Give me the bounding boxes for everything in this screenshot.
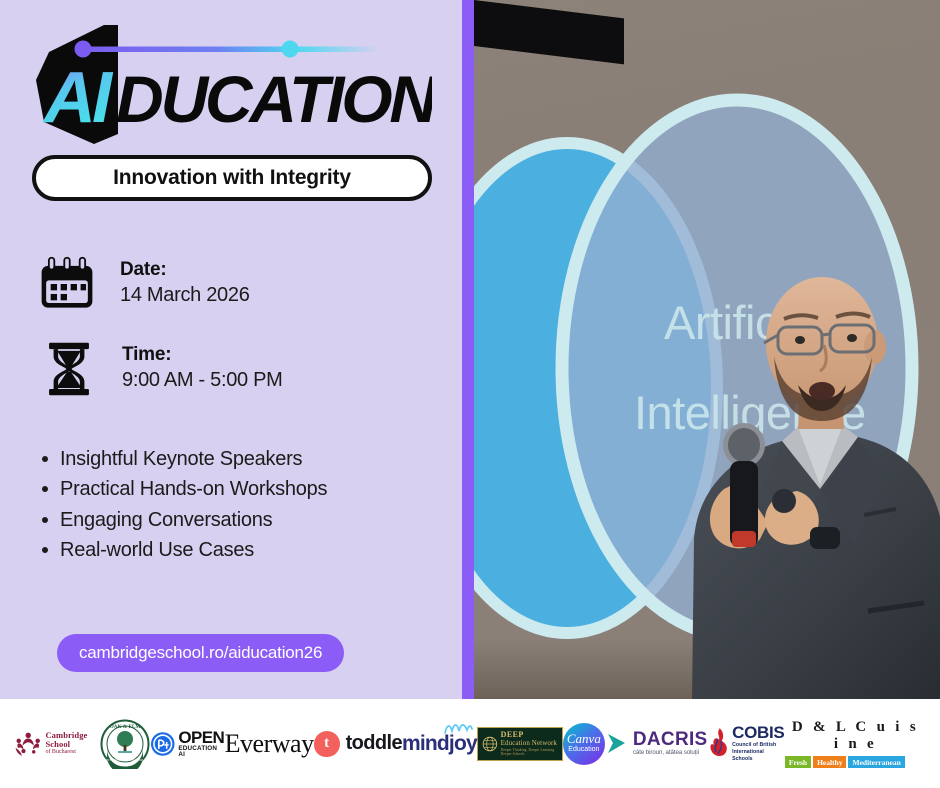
logo-connector-line: [80, 47, 380, 53]
deep-globe-icon: [482, 733, 498, 755]
dl-tag-healthy: Healthy: [813, 756, 846, 768]
purple-divider: [462, 0, 474, 699]
sponsor-logo-oak-and-elm: OAK & ELM INTERNATIONAL SCHOOL: [100, 716, 150, 772]
sponsor-logo-dl-cuisine: D & L C u i s i n e Fresh Healthy Medite…: [785, 716, 926, 772]
sponsor-logo-canva-education: Canva Education: [563, 716, 605, 772]
open-education-name: OPEN: [178, 729, 224, 746]
cobis-wordmark: COBIS: [732, 724, 785, 743]
deep-sub: Education Network: [501, 740, 558, 748]
dl-cuisine-wordmark: D & L C u i s i n e: [785, 719, 926, 753]
time-text-block: Time: 9:00 AM - 5:00 PM: [122, 343, 283, 393]
logo-ducation-text: DUCATION: [116, 62, 432, 136]
list-item: Engaging Conversations: [34, 505, 327, 535]
highlights-list: Insightful Keynote Speakers Practical Ha…: [34, 444, 327, 566]
open-education-ai-icon: [150, 731, 176, 757]
canva-wordmark: Canva: [567, 732, 601, 745]
list-item: Insightful Keynote Speakers: [34, 444, 327, 474]
time-row: Time: 9:00 AM - 5:00 PM: [40, 340, 283, 398]
dl-cuisine-tags: Fresh Healthy Mediterranean: [785, 756, 926, 768]
calendar-icon: [38, 255, 96, 313]
sponsor-logo-mindjoy: mindjoy: [402, 716, 477, 772]
info-panel: AI DUCATION Innovation with Integrity: [0, 0, 462, 699]
speaker-photo: Artificial Intelligence: [474, 0, 940, 699]
sponsor-logo-open-education-ai: OPEN EDUCATION AI: [150, 716, 225, 772]
toddle-mark-letter: t: [324, 735, 329, 752]
cobis-sub1: Council of British: [732, 742, 785, 749]
sponsor-logo-everway: Everway: [225, 716, 314, 772]
date-row: Date: 14 March 2026: [38, 255, 250, 313]
deep-tagline: Deeper Thinking. Deeper Learning. Deeper…: [501, 748, 558, 756]
oak-elm-bottom-text: INTERNATIONAL SCHOOL: [106, 758, 144, 762]
mindjoy-squiggle-icon: [443, 721, 473, 735]
logo-ai-text: AI: [42, 58, 114, 138]
website-url-button[interactable]: cambridgeschool.ro/aiducation26: [57, 634, 344, 672]
hourglass-icon: [40, 340, 98, 398]
cobis-flame-icon: [708, 727, 730, 759]
dacris-tagline: câte birouri, atâtea soluții: [633, 750, 708, 757]
sponsor-logo-toddle: t toddle: [314, 716, 402, 772]
list-item: Practical Hands-on Workshops: [34, 474, 327, 504]
everway-wordmark: Everway: [225, 729, 314, 759]
sponsor-logo-cambridge-school: Cambridge School of Bucharest: [14, 716, 100, 772]
date-text-block: Date: 14 March 2026: [120, 258, 250, 308]
cobis-sub2: International Schools: [732, 749, 785, 763]
sponsor-logo-cobis: COBIS Council of British International S…: [708, 716, 785, 772]
event-poster: AI DUCATION Innovation with Integrity: [0, 0, 940, 788]
sponsor-logo-bar: Cambridge School of Bucharest OAK & ELM …: [0, 699, 940, 788]
time-value: 9:00 AM - 5:00 PM: [122, 367, 283, 393]
poster-main-area: AI DUCATION Innovation with Integrity: [0, 0, 940, 699]
oak-and-elm-seal-icon: OAK & ELM INTERNATIONAL SCHOOL: [100, 719, 150, 769]
date-label: Date:: [120, 258, 250, 282]
website-url-label: cambridgeschool.ro/aiducation26: [79, 643, 322, 663]
logo-node-right: [282, 41, 299, 58]
open-education-sub: EDUCATION AI: [178, 746, 224, 759]
dl-tag-mediterranean: Mediterranean: [848, 756, 904, 768]
logo-node-left: [75, 41, 92, 58]
dacris-chevron-icon: [605, 731, 629, 757]
tagline-badge: Innovation with Integrity: [32, 155, 432, 201]
list-item: Real-world Use Cases: [34, 535, 327, 565]
cambridge-line1: Cambridge School: [45, 731, 99, 749]
aiducation-logo: AI DUCATION: [32, 22, 432, 147]
cambridge-line2: of Bucharest: [45, 749, 99, 755]
sponsor-logo-deep-education-network: DEEP Education Network Deeper Thinking. …: [477, 716, 563, 772]
tagline-text: Innovation with Integrity: [113, 166, 351, 190]
cambridge-people-icon: [14, 727, 42, 761]
toddle-wordmark: toddle: [346, 732, 402, 755]
dacris-wordmark: DACRIS: [633, 730, 708, 750]
sponsor-logo-dacris: DACRIS câte birouri, atâtea soluții: [605, 716, 708, 772]
oak-elm-top-text: OAK & ELM: [110, 724, 141, 730]
toddle-mark-icon: t: [314, 731, 340, 757]
canva-sub: Education: [568, 745, 599, 754]
time-label: Time:: [122, 343, 283, 367]
speaker-figure: [632, 239, 940, 699]
aiducation-logo-svg: AI DUCATION: [32, 22, 432, 147]
date-value: 14 March 2026: [120, 282, 250, 308]
dl-tag-fresh: Fresh: [785, 756, 811, 768]
mindjoy-wordmark: mindjoy: [402, 732, 477, 756]
